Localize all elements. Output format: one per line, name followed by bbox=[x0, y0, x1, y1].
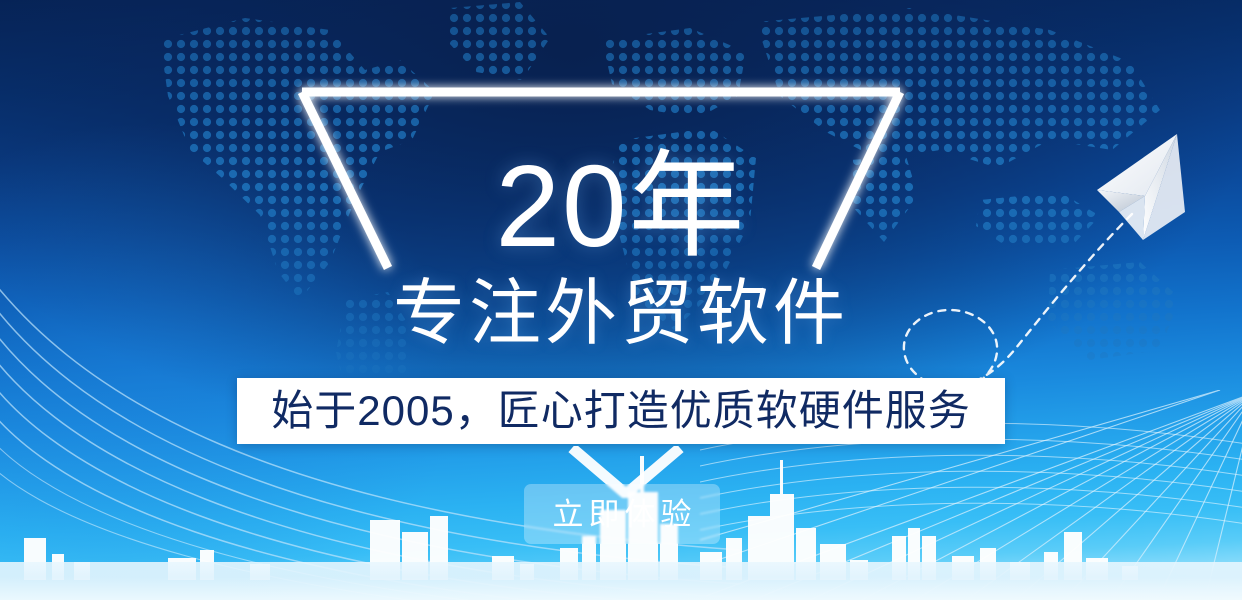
headline-subtitle: 专注外贸软件 bbox=[0, 278, 1242, 350]
tagline-text: 始于2005，匠心打造优质软硬件服务 bbox=[271, 390, 970, 432]
tagline-banner: 始于2005，匠心打造优质软硬件服务 bbox=[237, 378, 1005, 444]
headline-years: 20年 bbox=[0, 148, 1242, 264]
promo-banner: 20年 专注外贸软件 bbox=[0, 0, 1242, 600]
cta-experience-button[interactable]: 立即体验 bbox=[524, 484, 720, 544]
cta-button-label: 立即体验 bbox=[548, 499, 697, 530]
